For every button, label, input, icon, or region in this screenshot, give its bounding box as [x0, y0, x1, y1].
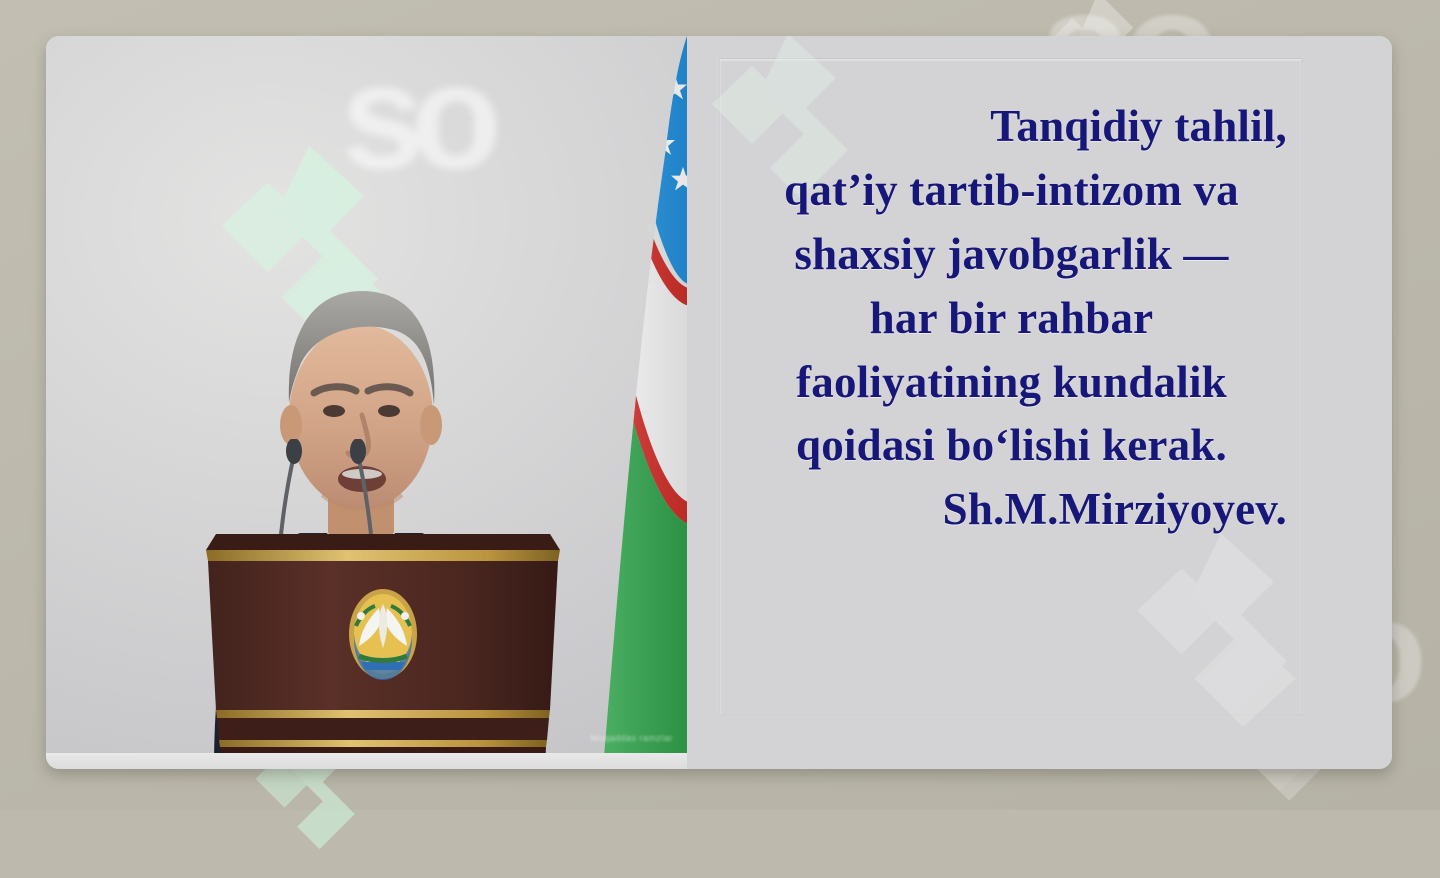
quote-panel: Tanqidiy tahlil, qat’iy tartib-intizom v…	[719, 58, 1302, 715]
quote-attribution: Sh.M.Mirziyoyev.	[730, 478, 1293, 542]
quote-line-4: har bir rahbar	[730, 287, 1293, 351]
podium	[198, 534, 568, 769]
quote-line-6: qoidasi bo‘lishi kerak.	[730, 414, 1293, 478]
quote-watermark-logo-bottomright	[1111, 524, 1331, 754]
flag-caption: Muqaddas ramzlar	[590, 733, 673, 743]
quote-line-2: qat’iy tartib-intizom va	[730, 159, 1293, 223]
quote-line-1: Tanqidiy tahlil,	[730, 95, 1293, 159]
quote-text: Tanqidiy tahlil, qat’iy tartib-intizom v…	[730, 95, 1293, 542]
quote-line-3: shaxsiy javobgarlik —	[730, 223, 1293, 287]
slide-card: so	[46, 36, 1392, 769]
quote-area: Tanqidiy tahlil, qat’iy tartib-intizom v…	[687, 36, 1392, 769]
speech-photo: so	[46, 36, 687, 769]
uzbekistan-flag-icon	[567, 36, 687, 769]
quote-line-5: faoliyatining kundalik	[730, 351, 1293, 415]
stage-floor	[46, 753, 687, 769]
